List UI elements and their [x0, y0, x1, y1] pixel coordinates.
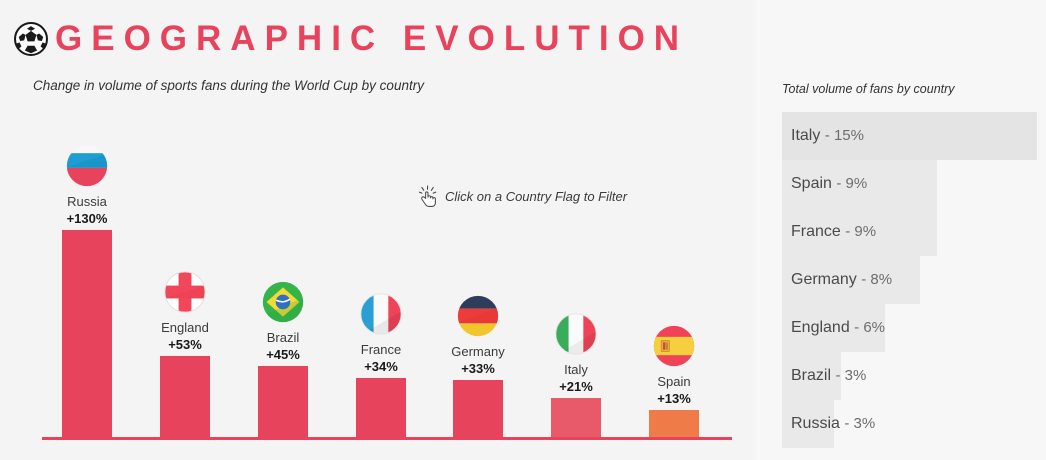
soccer-ball-icon — [14, 22, 48, 56]
bar-country-label: Russia — [32, 194, 142, 210]
sidebar-item-label: France - 9% — [791, 208, 876, 256]
sidebar-item-country: Germany — [791, 271, 857, 288]
bar-group[interactable]: Italy+21% — [521, 312, 631, 438]
bar-chart: Click on a Country Flag to Filter Russia… — [0, 100, 745, 460]
sidebar-item-country: Russia — [791, 415, 840, 432]
bar-group[interactable]: Russia+130% — [32, 144, 142, 438]
sidebar-item-percent: - 15% — [825, 127, 864, 144]
sidebar-item-percent: - 6% — [854, 319, 885, 336]
sidebar-item-percent: - 8% — [861, 271, 892, 288]
sidebar-item-label: Spain - 9% — [791, 160, 867, 208]
bar-country-label: Italy — [521, 362, 631, 378]
sidebar-item-label: Russia - 3% — [791, 400, 875, 448]
bar-group[interactable]: Brazil+45% — [228, 280, 338, 438]
sidebar-list-item[interactable]: Germany - 8% — [755, 256, 1046, 304]
flag-england-icon[interactable] — [163, 270, 207, 314]
bar-value-label: +130% — [32, 210, 142, 227]
bar-country-label: France — [326, 342, 436, 358]
sidebar-title: Total volume of fans by country — [782, 82, 955, 96]
sidebar-item-label: Germany - 8% — [791, 256, 892, 304]
sidebar-item-percent: - 3% — [844, 415, 875, 432]
bar-rect[interactable] — [551, 398, 601, 438]
bar-value-label: +53% — [130, 336, 240, 353]
flag-brazil-icon[interactable] — [261, 280, 305, 324]
click-hand-icon — [419, 185, 438, 207]
sidebar-list-item[interactable]: Italy - 15% — [755, 112, 1046, 160]
bar-rect[interactable] — [356, 378, 406, 438]
sidebar-list-item[interactable]: Brazil - 3% — [755, 352, 1046, 400]
sidebar-item-country: England — [791, 319, 850, 336]
sidebar-list-item[interactable]: Spain - 9% — [755, 160, 1046, 208]
bar-value-label: +21% — [521, 378, 631, 395]
bar-group[interactable]: England+53% — [130, 270, 240, 438]
page-subtitle: Change in volume of sports fans during t… — [33, 78, 424, 93]
sidebar-item-label: Italy - 15% — [791, 112, 864, 160]
sidebar-list-item[interactable]: France - 9% — [755, 208, 1046, 256]
bar-value-label: +33% — [423, 360, 533, 377]
sidebar-item-country: Italy — [791, 127, 820, 144]
sidebar-item-percent: - 3% — [835, 367, 866, 384]
bar-group[interactable]: Germany+33% — [423, 294, 533, 438]
bar-country-label: Brazil — [228, 330, 338, 346]
flag-spain-icon[interactable] — [652, 324, 696, 368]
sidebar-item-label: Brazil - 3% — [791, 352, 866, 400]
flag-france-icon[interactable] — [359, 292, 403, 336]
sidebar-item-percent: - 9% — [836, 175, 867, 192]
bar-group[interactable]: Spain+13% — [619, 324, 729, 438]
bar-country-label: Spain — [619, 374, 729, 390]
filter-hint-text: Click on a Country Flag to Filter — [445, 189, 627, 204]
bar-country-label: Germany — [423, 344, 533, 360]
filter-hint: Click on a Country Flag to Filter — [419, 185, 627, 207]
bar-rect[interactable] — [62, 230, 112, 438]
chart-baseline — [42, 437, 732, 440]
bar-rect[interactable] — [453, 380, 503, 438]
flag-russia-icon[interactable] — [65, 144, 109, 188]
bar-value-label: +34% — [326, 358, 436, 375]
sidebar-item-country: Brazil — [791, 367, 831, 384]
sidebar-item-country: France — [791, 223, 841, 240]
sidebar-item-country: Spain — [791, 175, 832, 192]
bar-value-label: +45% — [228, 346, 338, 363]
flag-germany-icon[interactable] — [456, 294, 500, 338]
sidebar-panel: Total volume of fans by country Italy - … — [755, 0, 1046, 460]
bar-rect[interactable] — [160, 356, 210, 438]
sidebar-list: Italy - 15%Spain - 9%France - 9%Germany … — [755, 112, 1046, 448]
sidebar-list-item[interactable]: England - 6% — [755, 304, 1046, 352]
bar-rect[interactable] — [649, 410, 699, 438]
bar-value-label: +13% — [619, 390, 729, 407]
bar-group[interactable]: France+34% — [326, 292, 436, 438]
page-title: GEOGRAPHIC EVOLUTION — [55, 18, 688, 60]
bar-rect[interactable] — [258, 366, 308, 438]
sidebar-list-item[interactable]: Russia - 3% — [755, 400, 1046, 448]
sidebar-item-percent: - 9% — [845, 223, 876, 240]
sidebar-item-label: England - 6% — [791, 304, 885, 352]
flag-italy-icon[interactable] — [554, 312, 598, 356]
bar-country-label: England — [130, 320, 240, 336]
